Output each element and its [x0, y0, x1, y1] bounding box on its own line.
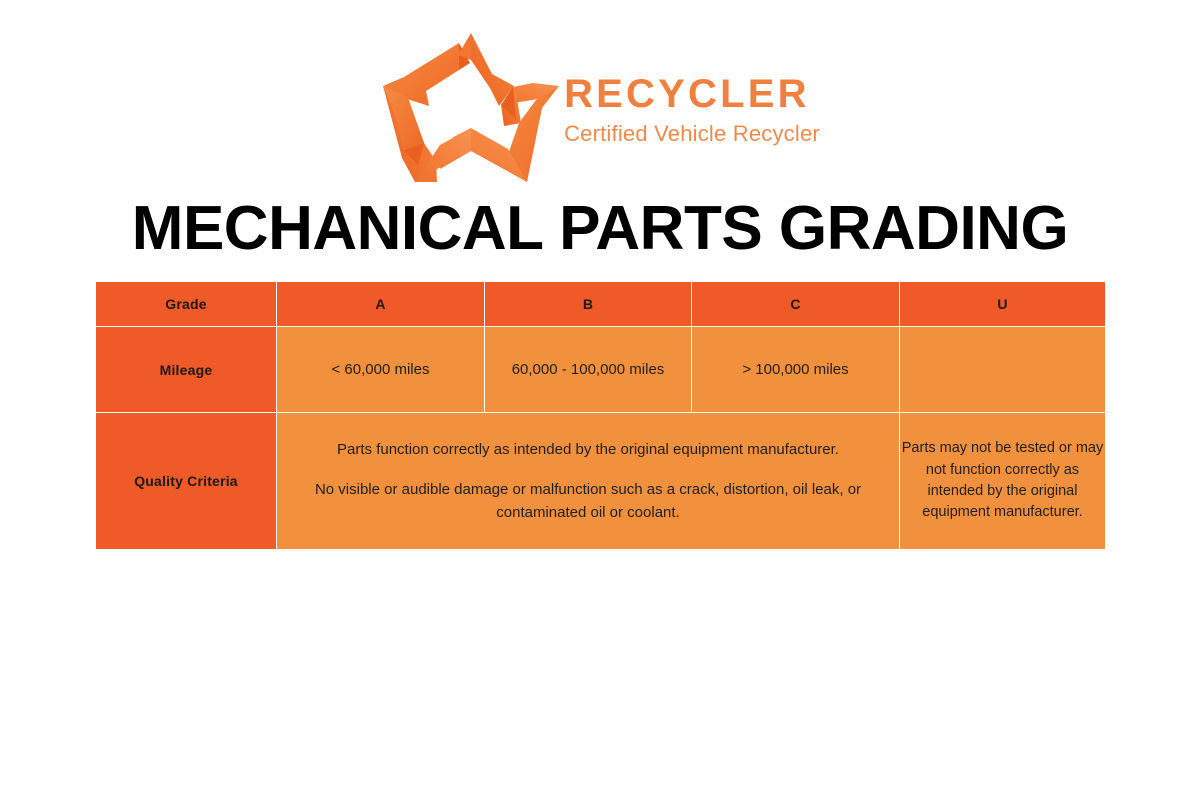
header-cell-grade-c: C — [692, 282, 900, 327]
table-row-mileage: Mileage < 60,000 miles 60,000 - 100,000 … — [96, 327, 1106, 413]
mileage-cell-c: > 100,000 miles — [692, 327, 900, 413]
header-cell-grade-u: U — [900, 282, 1106, 327]
quality-paragraph-2: No visible or audible damage or malfunct… — [277, 478, 899, 525]
logo-text-block: RECYCLER Certified Vehicle Recycler — [564, 67, 820, 146]
quality-cell-abc: Parts function correctly as intended by … — [277, 413, 900, 550]
quality-paragraph-1: Parts function correctly as intended by … — [277, 438, 899, 461]
logo-inner: RECYCLER Certified Vehicle Recycler — [380, 30, 820, 185]
mileage-cell-a: < 60,000 miles — [277, 327, 485, 413]
row-label-mileage: Mileage — [96, 327, 277, 413]
row-label-quality-criteria: Quality Criteria — [96, 413, 277, 550]
table-row-quality-criteria: Quality Criteria Parts function correctl… — [96, 413, 1106, 550]
mileage-cell-u — [900, 327, 1106, 413]
recycling-star-icon — [380, 30, 562, 185]
logo-wordmark: RECYCLER — [564, 73, 820, 115]
table-header-row: Grade A B C U — [96, 282, 1106, 327]
quality-cell-u: Parts may not be tested or may not funct… — [900, 413, 1106, 550]
brand-logo: RECYCLER Certified Vehicle Recycler — [0, 28, 1200, 186]
page-title: MECHANICAL PARTS GRADING — [0, 196, 1200, 261]
mileage-cell-b: 60,000 - 100,000 miles — [485, 327, 692, 413]
header-cell-grade-b: B — [485, 282, 692, 327]
logo-tagline: Certified Vehicle Recycler — [564, 121, 820, 146]
header-cell-grade-a: A — [277, 282, 485, 327]
header-cell-grade: Grade — [96, 282, 277, 327]
grading-table: Grade A B C U Mileage < 60,000 miles 60,… — [95, 281, 1106, 550]
